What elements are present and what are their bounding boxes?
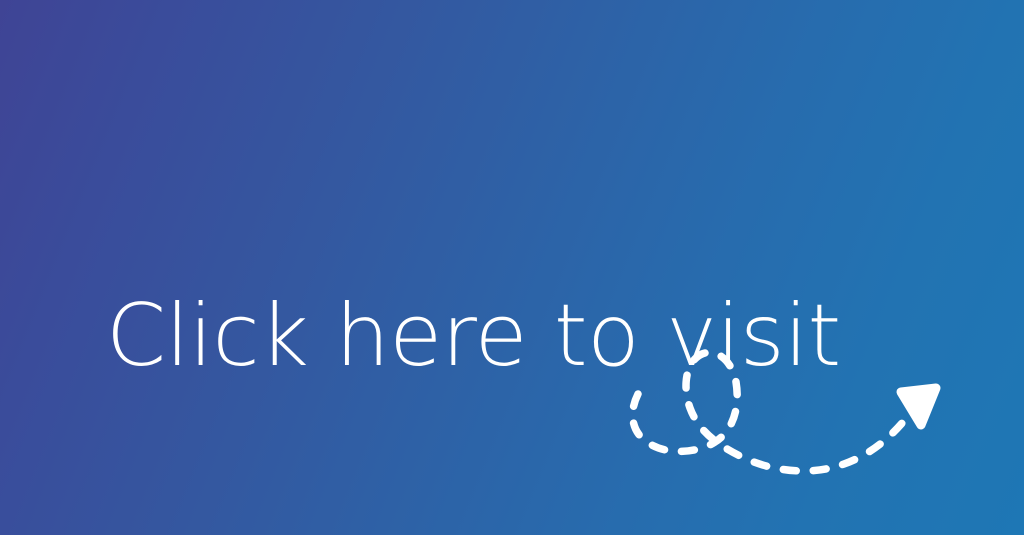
arrowhead-icon xyxy=(901,388,936,425)
page-title: Click here to visit the Community Calend… xyxy=(106,104,841,535)
headline-line-1: Click here to visit xyxy=(106,290,841,383)
community-calendar-cta-banner[interactable]: Click here to visit the Community Calend… xyxy=(0,0,1024,535)
